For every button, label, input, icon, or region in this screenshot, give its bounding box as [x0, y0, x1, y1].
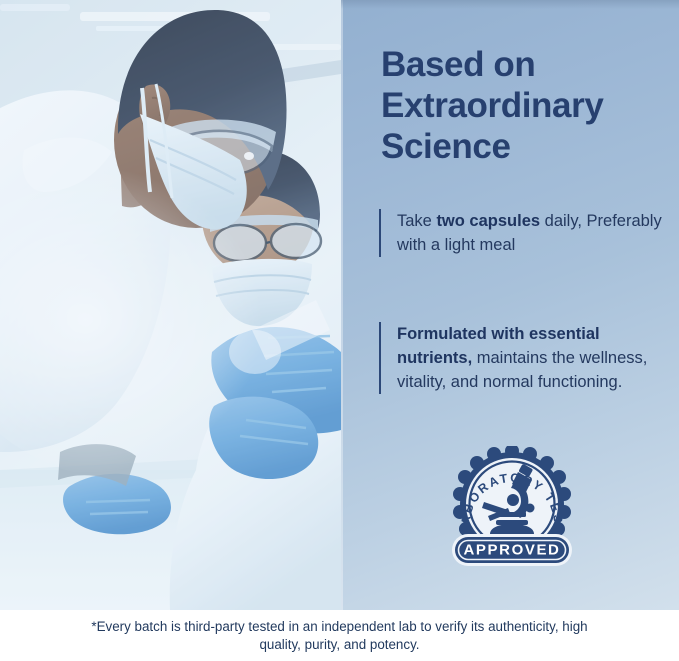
badge-ribbon: APPROVED [452, 534, 572, 566]
page-title: Based on Extraordinary Science [381, 44, 671, 167]
bullet-dosage-emphasis: two capsules [436, 212, 540, 230]
bullet-formulation: Formulated with essential nutrients, mai… [379, 322, 665, 394]
panel-left-edge [341, 0, 343, 610]
laboratory-test-approved-badge: LABORATORY TEST [444, 446, 580, 572]
laboratory-photo [0, 0, 341, 610]
badge-ribbon-label: APPROVED [464, 542, 561, 559]
footer-bar: *Every batch is third-party tested in an… [0, 610, 679, 661]
bullet-dosage-lead: Take [397, 212, 436, 230]
panel-top-band [341, 0, 679, 9]
laboratory-photo-illustration [0, 0, 341, 610]
footer-disclaimer: *Every batch is third-party tested in an… [70, 618, 610, 654]
infographic-page: Based on Extraordinary Science Take two … [0, 0, 679, 661]
bullet-dosage: Take two capsules daily, Preferably with… [379, 209, 665, 257]
badge-graphic: LABORATORY TEST [444, 446, 580, 572]
